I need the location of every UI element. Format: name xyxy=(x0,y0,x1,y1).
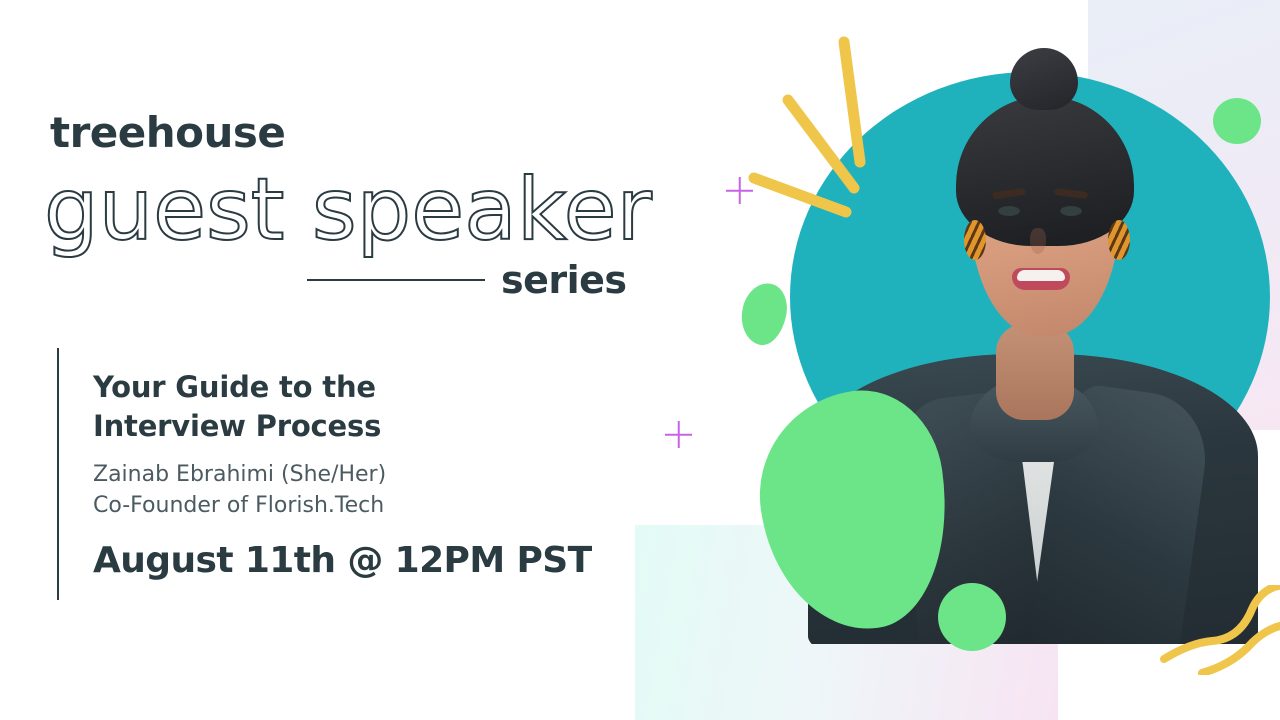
talk-info-block: Your Guide to the Interview Process Zain… xyxy=(57,348,617,600)
earring-left xyxy=(964,220,986,260)
yellow-burst-strokes xyxy=(748,30,883,220)
brand-wordmark: treehouse xyxy=(50,108,285,157)
yellow-wave-strokes xyxy=(1160,585,1280,675)
plus-mark-icon-bottom xyxy=(665,421,692,448)
series-label: series xyxy=(501,258,627,302)
headline-outline: guest speaker xyxy=(44,160,652,260)
eye-left xyxy=(998,206,1020,216)
series-divider-rule xyxy=(307,279,485,281)
speaker-role: Co-Founder of Florish.Tech xyxy=(93,490,592,521)
green-circle-bottom xyxy=(938,583,1006,651)
green-circle-top-right xyxy=(1213,98,1261,144)
hair xyxy=(956,96,1134,246)
green-blob-small-shape xyxy=(736,279,792,349)
talk-info-body: Your Guide to the Interview Process Zain… xyxy=(93,368,592,581)
teeth xyxy=(1017,270,1065,281)
hair-bun xyxy=(1010,48,1078,110)
series-row: series xyxy=(307,258,627,302)
neck xyxy=(996,324,1074,420)
accent-vertical-rule xyxy=(57,348,59,600)
event-datetime: August 11th @ 12PM PST xyxy=(93,540,592,581)
earring-right xyxy=(1108,220,1130,260)
nose xyxy=(1030,228,1046,254)
slide-canvas: treehouse guest speaker series Your Guid… xyxy=(0,0,1280,720)
eye-right xyxy=(1060,206,1082,216)
speaker-name: Zainab Ebrahimi (She/Her) xyxy=(93,459,592,490)
talk-title: Your Guide to the Interview Process xyxy=(93,368,592,445)
